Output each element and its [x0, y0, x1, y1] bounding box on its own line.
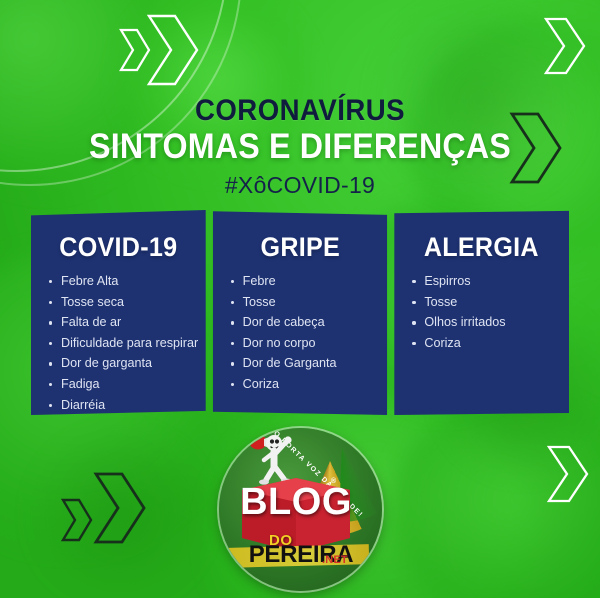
poster-headings: CORONAVÍRUS SINTOMAS E DIFERENÇAS #XôCOV…: [0, 95, 600, 199]
logo-name-text: PEREIRA: [226, 543, 376, 567]
chevron-right-icon: [542, 15, 588, 77]
chevron-right-icon: [92, 470, 148, 546]
list-item: Febre Alta: [48, 275, 198, 288]
symptom-list: Febre Tosse Dor de cabeça Dor no corpo D…: [213, 275, 388, 391]
list-item: Dor de cabeça: [230, 316, 380, 329]
symptom-list: Espirros Tosse Olhos irritados Coriza: [394, 275, 569, 349]
symptom-card-covid19: COVID-19 Febre Alta Tosse seca Falta de …: [31, 210, 206, 415]
symptom-card-gripe: GRIPE Febre Tosse Dor de cabeça Dor no c…: [213, 210, 388, 415]
logo-brand-text: BLOG: [236, 483, 356, 521]
card-title: COVID-19: [37, 232, 199, 263]
symptom-cards-row: COVID-19 Febre Alta Tosse seca Falta de …: [31, 210, 569, 415]
page-title: CORONAVÍRUS: [24, 95, 576, 126]
logo-tld-text: .NET: [322, 554, 348, 566]
card-title: ALERGIA: [400, 232, 562, 263]
list-item: Tosse seca: [48, 296, 198, 309]
chevron-right-icon: [145, 12, 201, 88]
infographic-poster: CORONAVÍRUS SINTOMAS E DIFERENÇAS #XôCOV…: [0, 0, 600, 598]
chevron-right-icon: [545, 443, 591, 505]
list-item: Dificuldade para respirar: [48, 337, 198, 350]
list-item: Espirros: [411, 275, 561, 288]
list-item: Tosse: [411, 296, 561, 309]
blog-do-pereira-logo[interactable]: O PORTA VOZ DA CIDADE!: [219, 428, 382, 591]
list-item: Coriza: [230, 378, 380, 391]
list-item: Coriza: [411, 337, 561, 350]
list-item: Falta de ar: [48, 316, 198, 329]
page-subtitle: SINTOMAS E DIFERENÇAS: [24, 128, 576, 165]
list-item: Dor no corpo: [230, 337, 380, 350]
list-item: Dor de garganta: [48, 357, 198, 370]
list-item: Dor de Garganta: [230, 357, 380, 370]
symptom-list: Febre Alta Tosse seca Falta de ar Dificu…: [31, 275, 206, 411]
list-item: Olhos irritados: [411, 316, 561, 329]
list-item: Febre: [230, 275, 380, 288]
card-title: GRIPE: [219, 232, 381, 263]
chevron-right-icon: [60, 497, 94, 543]
list-item: Tosse: [230, 296, 380, 309]
campaign-hashtag: #XôCOVID-19: [0, 172, 600, 199]
registered-mark: ®: [331, 478, 336, 485]
list-item: Diarréia: [48, 399, 198, 412]
list-item: Fadiga: [48, 378, 198, 391]
symptom-card-alergia: ALERGIA Espirros Tosse Olhos irritados C…: [394, 210, 569, 415]
